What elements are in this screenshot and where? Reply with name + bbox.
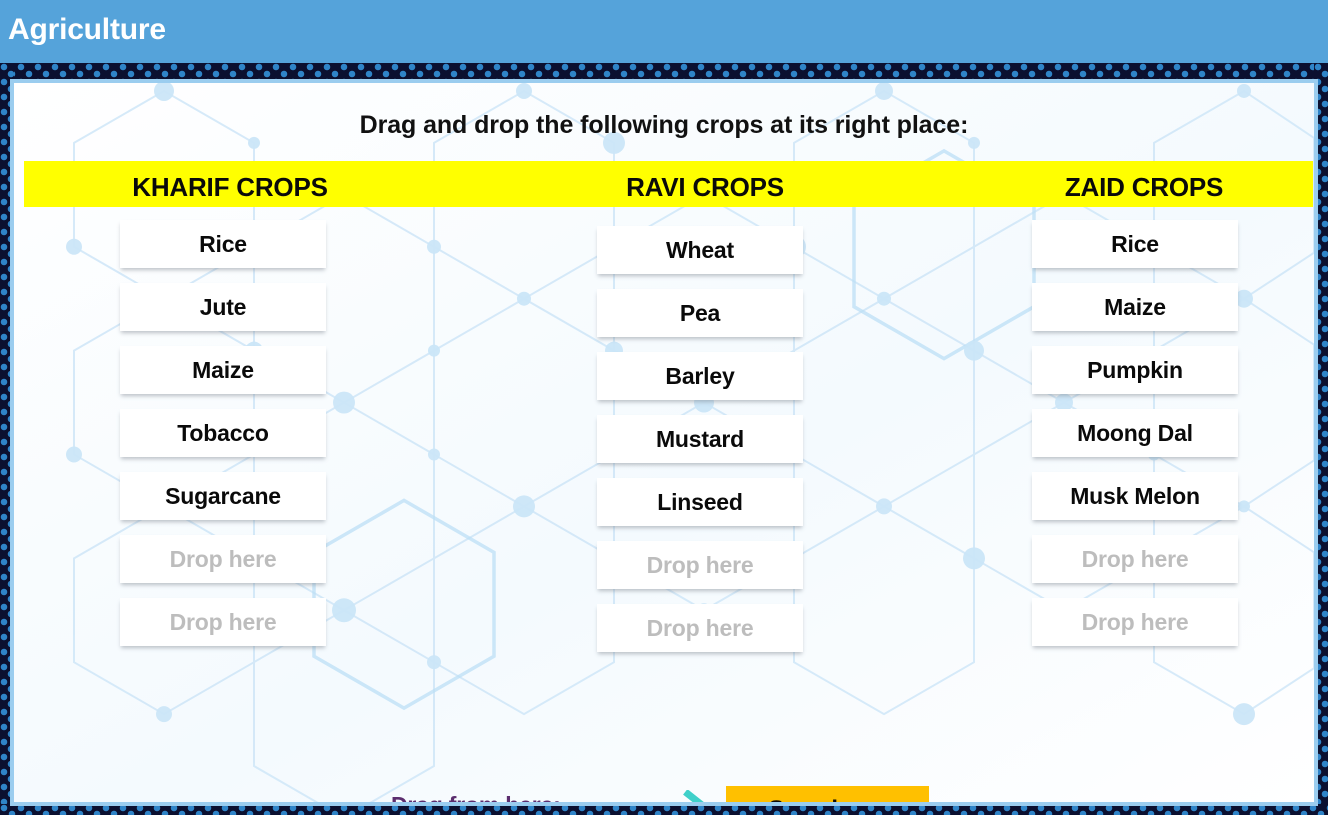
drop-slot[interactable]: Drop here	[120, 598, 326, 646]
column-heading-zaid: ZAID CROPS	[994, 172, 1294, 203]
crop-card[interactable]: Jute	[120, 283, 326, 331]
drop-slot[interactable]: Drop here	[597, 604, 803, 652]
drop-slot[interactable]: Drop here	[1032, 598, 1238, 646]
crop-card[interactable]: Moong Dal	[1032, 409, 1238, 457]
slide-root: Agriculture	[0, 0, 1328, 815]
crop-card[interactable]: Musk Melon	[1032, 472, 1238, 520]
instruction-text: Drag and drop the following crops at its…	[14, 111, 1314, 140]
crop-card[interactable]: Sugarcane	[120, 472, 326, 520]
drag-from-here-label: Drag from here:	[391, 792, 561, 806]
crop-card[interactable]: Mustard	[597, 415, 803, 463]
crop-card[interactable]: Maize	[1032, 283, 1238, 331]
header-bar: Agriculture	[0, 0, 1328, 63]
draggable-soya-bean[interactable]: Soya bean	[726, 786, 929, 806]
drop-slot[interactable]: Drop here	[597, 541, 803, 589]
crop-card[interactable]: Pea	[597, 289, 803, 337]
column-heading-kharif: KHARIF CROPS	[80, 172, 380, 203]
drop-column-zaid: Rice Maize Pumpkin Moong Dal Musk Melon …	[1032, 220, 1238, 661]
drop-slot[interactable]: Drop here	[1032, 535, 1238, 583]
content-panel: Drag and drop the following crops at its…	[10, 79, 1318, 806]
crop-card[interactable]: Pumpkin	[1032, 346, 1238, 394]
crop-card[interactable]: Barley	[597, 352, 803, 400]
drop-slot[interactable]: Drop here	[120, 535, 326, 583]
crop-card[interactable]: Wheat	[597, 226, 803, 274]
drop-column-kharif: Rice Jute Maize Tobacco Sugarcane Drop h…	[120, 220, 326, 661]
column-heading-ravi: RAVI CROPS	[555, 172, 855, 203]
crop-card[interactable]: Maize	[120, 346, 326, 394]
crop-card[interactable]: Linseed	[597, 478, 803, 526]
crop-card[interactable]: Tobacco	[120, 409, 326, 457]
page-title: Agriculture	[8, 13, 166, 47]
right-arrow-icon	[626, 790, 722, 806]
crop-card[interactable]: Rice	[120, 220, 326, 268]
drop-column-ravi: Wheat Pea Barley Mustard Linseed Drop he…	[597, 226, 803, 667]
crop-card[interactable]: Rice	[1032, 220, 1238, 268]
